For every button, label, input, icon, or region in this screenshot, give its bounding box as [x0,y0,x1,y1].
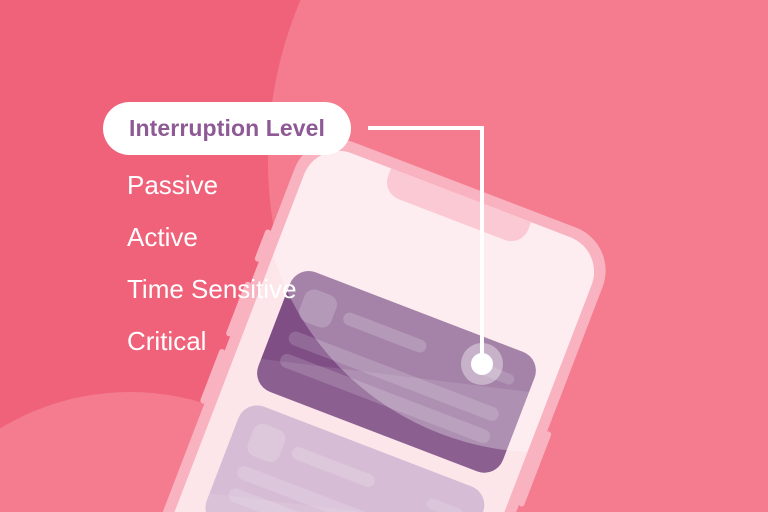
notification-title-bar [290,445,377,489]
notification-app-icon [244,421,288,465]
interruption-level-pill-label: Interruption Level [129,115,325,142]
callout-target-dot[interactable] [471,353,493,375]
illustration-canvas: Interruption Level Passive Active Time S… [0,0,768,512]
level-item-critical[interactable]: Critical [127,328,427,354]
notification-time-bar [425,497,464,512]
interruption-level-list: Passive Active Time Sensitive Critical [127,172,427,380]
level-item-time-sensitive[interactable]: Time Sensitive [127,276,427,302]
interruption-level-pill[interactable]: Interruption Level [103,102,351,155]
level-item-active[interactable]: Active [127,224,427,250]
level-item-passive[interactable]: Passive [127,172,427,198]
